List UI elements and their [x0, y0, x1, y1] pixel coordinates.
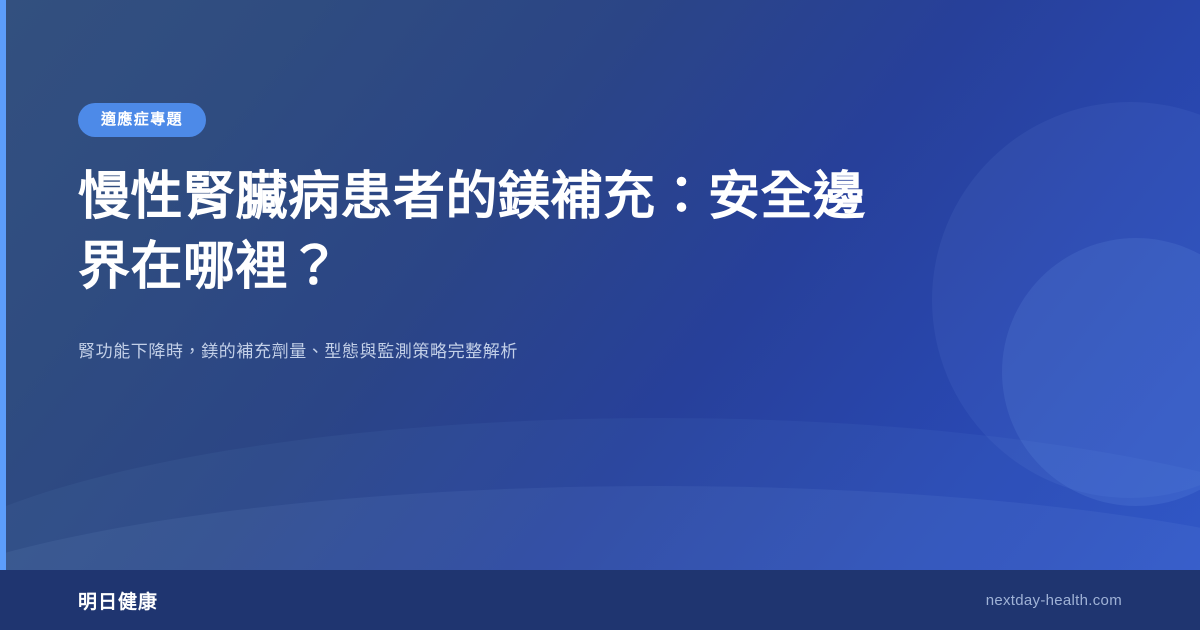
share-card-banner: 適應症專題 慢性腎臟病患者的鎂補充：安全邊界在哪裡？ 腎功能下降時，鎂的補充劑量…	[0, 0, 1200, 630]
page-title: 慢性腎臟病患者的鎂補充：安全邊界在哪裡？	[78, 163, 908, 302]
left-accent-bar	[0, 0, 6, 570]
banner-content: 適應症專題 慢性腎臟病患者的鎂補充：安全邊界在哪裡？ 腎功能下降時，鎂的補充劑量…	[78, 0, 958, 366]
decorative-circle-outer	[932, 102, 1200, 498]
page-subtitle: 腎功能下降時，鎂的補充劑量、型態與監測策略完整解析	[78, 338, 878, 365]
brand-name: 明日健康	[78, 587, 158, 614]
decorative-circle-inner	[1002, 238, 1200, 506]
site-url: nextday-health.com	[986, 592, 1122, 609]
category-badge: 適應症專題	[78, 103, 206, 137]
banner-footer: 明日健康 nextday-health.com	[0, 570, 1200, 630]
